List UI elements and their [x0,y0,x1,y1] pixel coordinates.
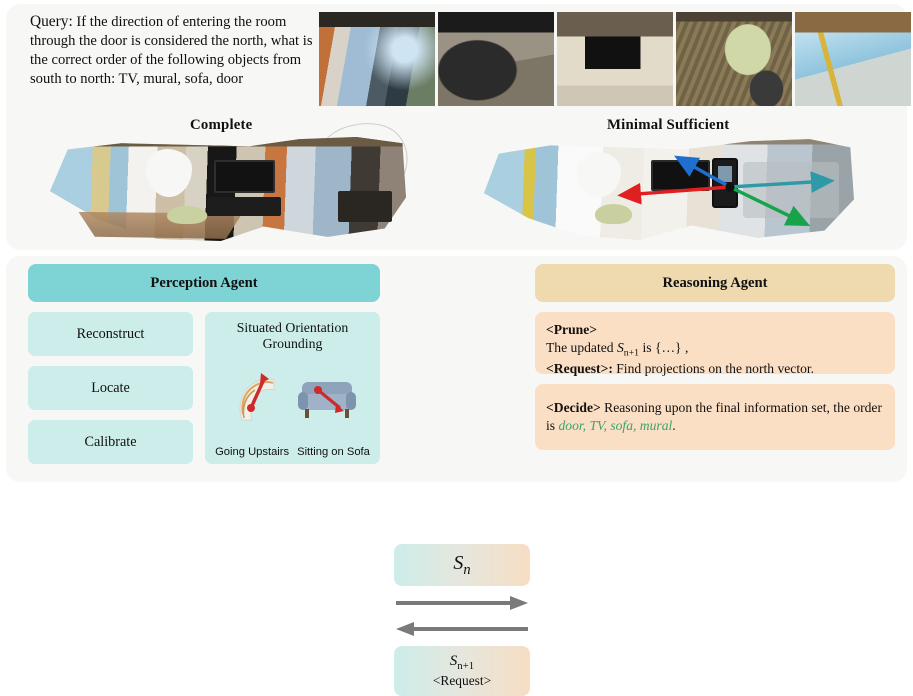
photo-lobby-entrance [319,12,435,106]
query-body: If the direction of entering the room th… [30,14,313,87]
state-message-sn1: Sn+1 <Request> [394,646,530,696]
photo-chair-carpet [676,12,792,106]
sofa-icon [296,364,358,426]
label-sitting-on-sofa: Sitting on Sofa [297,446,370,458]
prune-line1: The updated Sn+1 is {…} , [546,339,884,360]
cloud-fireplace [338,191,391,222]
request-text: Find projections on the north vector. [613,361,814,376]
orientation-vectors [484,137,854,241]
grounding-title: Situated Orientation Grounding [211,320,374,353]
decide-message: <Decide> Reasoning upon the final inform… [535,384,895,450]
label-going-upstairs: Going Upstairs [215,446,289,458]
decide-body: <Decide> Reasoning upon the final inform… [546,399,884,435]
room-photo-strip [319,12,911,106]
cloud-tv-stand [207,197,282,216]
grounding-icons [205,364,380,426]
query-panel: Query: If the direction of entering the … [6,4,907,250]
figure-root: Query: If the direction of entering the … [0,0,913,486]
state-sn-label: Sn [453,552,470,579]
query-text: Query: If the direction of entering the … [30,12,318,89]
query-label: Query: [30,13,73,30]
cloud-tv [214,160,275,193]
photo-tv-wall [557,12,673,106]
state-message-sn: Sn [394,544,530,586]
stairs-icon [228,364,286,426]
chip-locate[interactable]: Locate [28,366,193,410]
reasoning-agent-column: Reasoning Agent <Prune> The updated Sn+1… [535,264,895,450]
prune-message: <Prune> The updated Sn+1 is {…} , <Reque… [535,312,895,374]
reasoning-agent-header: Reasoning Agent [535,264,895,302]
photo-lounge-overhead [438,12,554,106]
situated-orientation-grounding: Situated Orientation Grounding [205,312,380,464]
prune-tag: <Prune> [546,322,597,337]
agent-panel: Perception Agent Reconstruct Locate Cali… [6,256,907,482]
decide-tag: <Decide> [546,400,601,415]
message-exchange-column: Sn Sn+1 <Request> [394,544,530,696]
minimal-sufficient-point-cloud [484,137,854,241]
perception-agent-column: Perception Agent Reconstruct Locate Cali… [28,264,380,464]
chip-calibrate[interactable]: Calibrate [28,420,193,464]
arrow-to-reasoning [394,594,530,612]
decide-answer: door, TV, sofa, mural [558,418,672,433]
perception-agent-header: Perception Agent [28,264,380,302]
cloud-chair [167,206,206,225]
request-tag: <Request>: [546,361,613,376]
grounding-labels: Going Upstairs Sitting on Sofa [205,446,380,458]
photo-mural-hallway [795,12,911,106]
perception-capability-list: Reconstruct Locate Calibrate [28,312,193,464]
state-sn1-label: Sn+1 [450,653,474,673]
complete-point-cloud [50,137,406,241]
caption-minimal-sufficient: Minimal Sufficient [607,117,729,134]
arrow-to-perception [394,620,530,638]
caption-complete: Complete [190,117,252,134]
prune-request-line: <Request>: Find projections on the north… [546,360,884,378]
request-token: <Request> [433,673,491,689]
decide-period: . [672,418,675,433]
chip-reconstruct[interactable]: Reconstruct [28,312,193,356]
